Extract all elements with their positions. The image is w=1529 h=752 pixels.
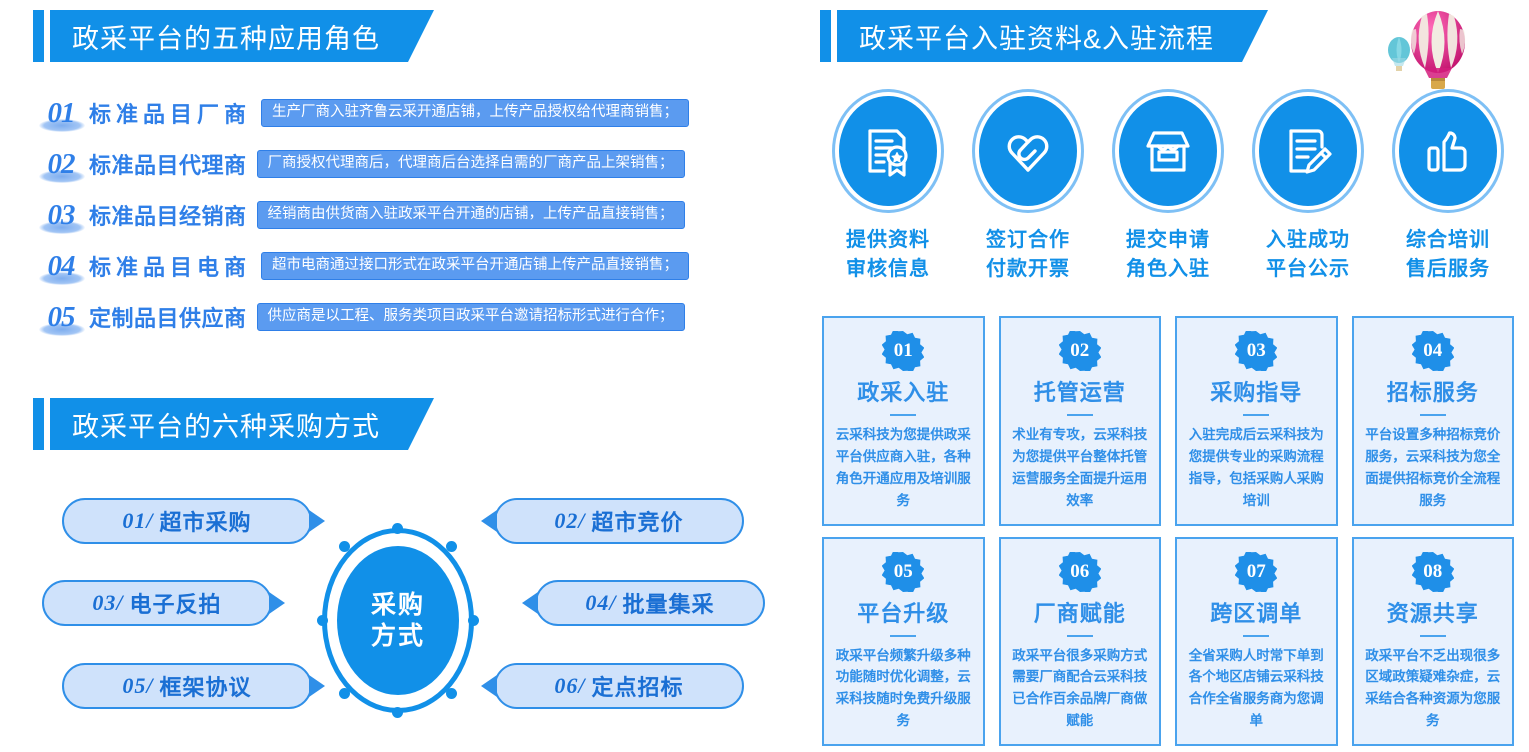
service-card[interactable]: 05 平台升级 政采平台频繁升级多种功能随时优化调整，云采科技随时免费升级服务	[822, 537, 985, 747]
wheel-dot	[339, 541, 350, 552]
step-label-line2: 审核信息	[846, 255, 930, 284]
roles-section-header: 政采平台的五种应用角色	[33, 10, 434, 62]
card-divider	[1420, 414, 1446, 416]
procurement-method-06[interactable]: 06/ 定点招标	[494, 663, 744, 709]
card-badge-number: 01	[894, 340, 913, 362]
wheel-dot	[392, 523, 403, 534]
card-badge-number: 02	[1070, 340, 1089, 362]
pill-tail	[269, 592, 285, 614]
service-cards-grid: 01 政采入驻 云采科技为您提供政采平台供应商入驻，各种角色开通应用及培训服务 …	[822, 316, 1514, 746]
role-number-text: 05	[48, 301, 75, 334]
role-name: 标准品目代理商	[89, 148, 247, 180]
wheel-dot	[468, 615, 479, 626]
card-title: 托管运营	[1034, 375, 1126, 407]
service-card[interactable]: 06 厂商赋能 政采平台很多采购方式需要厂商配合云采科技已合作百余品牌厂商做赋能	[999, 537, 1162, 747]
card-badge-number: 08	[1423, 561, 1442, 583]
role-row[interactable]: 03 标准品目经销商 经销商由供货商入驻政采平台开通的店铺，上传产品直接销售；	[33, 195, 685, 235]
card-body: 平台设置多种招标竞价服务，云采科技为您全面提供招标竞价全流程服务	[1354, 424, 1513, 511]
step-label: 综合培训 售后服务	[1406, 226, 1490, 284]
service-card[interactable]: 07 跨区调单 全省采购人时常下单到各个地区店铺云采科技合作全省服务商为您调单	[1175, 537, 1338, 747]
card-divider	[1420, 635, 1446, 637]
card-body: 入驻完成后云采科技为您提供专业的采购流程指导，包括采购人采购培训	[1177, 424, 1336, 511]
method-number: 01/	[122, 508, 153, 534]
step-label: 签订合作 付款开票	[986, 226, 1070, 284]
card-badge-number: 06	[1070, 561, 1089, 583]
service-card[interactable]: 02 托管运营 术业有专攻，云采科技为您提供平台整体托管运营服务全面提升运用效率	[999, 316, 1162, 526]
role-number-text: 03	[48, 199, 75, 232]
role-name: 标准品目电商	[89, 250, 251, 282]
step-label: 提供资料 审核信息	[846, 226, 930, 284]
method-number: 02/	[554, 508, 585, 534]
procurement-method-01[interactable]: 01/ 超市采购	[62, 498, 312, 544]
role-number: 05	[33, 297, 89, 337]
service-card[interactable]: 08 资源共享 政采平台不乏出现很多区域政策疑难杂症，云采结合各种资源为您服务	[1352, 537, 1515, 747]
step-label-line1: 综合培训	[1406, 226, 1490, 255]
flow-header-title: 政采平台入驻资料&入驻流程	[837, 10, 1268, 62]
card-title: 政采入驻	[857, 375, 949, 407]
wheel-dot	[446, 688, 457, 699]
step-item[interactable]: 综合培训 售后服务	[1378, 96, 1518, 296]
step-label-line2: 付款开票	[986, 255, 1070, 284]
step-label-line1: 提交申请	[1126, 226, 1210, 255]
step-label: 提交申请 角色入驻	[1126, 226, 1210, 284]
roles-header-title: 政采平台的五种应用角色	[50, 10, 434, 62]
wheel-dot	[392, 707, 403, 718]
card-badge-number: 03	[1247, 340, 1266, 362]
role-name: 定制品目供应商	[89, 301, 247, 333]
card-divider	[1067, 414, 1093, 416]
pill-tail	[522, 592, 538, 614]
card-divider	[890, 414, 916, 416]
step-label-line1: 提供资料	[846, 226, 930, 255]
step-item[interactable]: 提交申请 角色入驻	[1098, 96, 1238, 296]
document-edit-icon	[1259, 96, 1357, 206]
role-number: 02	[33, 144, 89, 184]
hot-air-balloon-icon	[1376, 6, 1480, 92]
card-badge: 02	[1059, 331, 1101, 371]
role-number: 04	[33, 246, 89, 286]
header-accent-bar	[33, 10, 44, 62]
role-number: 03	[33, 195, 89, 235]
wheel-dot	[317, 615, 328, 626]
step-label-line2: 角色入驻	[1126, 255, 1210, 284]
role-number-text: 04	[48, 250, 75, 283]
step-label: 入驻成功 平台公示	[1266, 226, 1350, 284]
role-number-text: 02	[48, 148, 75, 181]
card-divider	[1067, 635, 1093, 637]
step-item[interactable]: 入驻成功 平台公示	[1238, 96, 1378, 296]
card-badge: 08	[1412, 552, 1454, 592]
card-title: 招标服务	[1387, 375, 1479, 407]
service-card[interactable]: 01 政采入驻 云采科技为您提供政采平台供应商入驻，各种角色开通应用及培训服务	[822, 316, 985, 526]
role-description: 超市电商通过接口形式在政采平台开通店铺上传产品直接销售；	[261, 252, 689, 281]
card-badge: 07	[1235, 552, 1277, 592]
linked-hearts-icon	[979, 96, 1077, 206]
card-body: 政采平台很多采购方式需要厂商配合云采科技已合作百余品牌厂商做赋能	[1001, 645, 1160, 732]
procurement-method-05[interactable]: 05/ 框架协议	[62, 663, 312, 709]
role-row[interactable]: 02 标准品目代理商 厂商授权代理商后，代理商后台选择自需的厂商产品上架销售；	[33, 144, 685, 184]
method-label: 电子反拍	[130, 587, 222, 619]
header-accent-bar	[820, 10, 831, 62]
method-number: 05/	[122, 673, 153, 699]
method-number: 06/	[554, 673, 585, 699]
storefront-icon	[1119, 96, 1217, 206]
role-name: 标准品目经销商	[89, 199, 247, 231]
role-row[interactable]: 01 标准品目厂商 生产厂商入驻齐鲁云采开通店铺，上传产品授权给代理商销售；	[33, 93, 689, 133]
card-badge: 06	[1059, 552, 1101, 592]
step-label-line1: 入驻成功	[1266, 226, 1350, 255]
card-badge: 03	[1235, 331, 1277, 371]
card-title: 采购指导	[1210, 375, 1302, 407]
flow-section-header: 政采平台入驻资料&入驻流程	[820, 10, 1268, 62]
header-accent-gap	[831, 10, 837, 62]
procurement-method-04[interactable]: 04/ 批量集采	[535, 580, 765, 626]
procurement-wheel-center: 采购 方式	[322, 528, 474, 713]
method-label: 框架协议	[160, 670, 252, 702]
role-description: 厂商授权代理商后，代理商后台选择自需的厂商产品上架销售；	[257, 150, 685, 179]
card-badge: 04	[1412, 331, 1454, 371]
step-label-line1: 签订合作	[986, 226, 1070, 255]
role-row[interactable]: 04 标准品目电商 超市电商通过接口形式在政采平台开通店铺上传产品直接销售；	[33, 246, 689, 286]
card-body: 政采平台频繁升级多种功能随时优化调整，云采科技随时免费升级服务	[824, 645, 983, 732]
step-item[interactable]: 提供资料 审核信息	[818, 96, 958, 296]
onboarding-steps: 提供资料 审核信息 签订合作 付款开票	[818, 96, 1518, 296]
method-number: 03/	[92, 590, 123, 616]
card-divider	[890, 635, 916, 637]
method-label: 超市采购	[160, 505, 252, 537]
step-item[interactable]: 签订合作 付款开票	[958, 96, 1098, 296]
step-label-line2: 平台公示	[1266, 255, 1350, 284]
card-title: 跨区调单	[1210, 596, 1302, 628]
method-label: 超市竞价	[592, 505, 684, 537]
card-badge-number: 05	[894, 561, 913, 583]
service-card[interactable]: 03 采购指导 入驻完成后云采科技为您提供专业的采购流程指导，包括采购人采购培训	[1175, 316, 1338, 526]
service-card[interactable]: 04 招标服务 平台设置多种招标竞价服务，云采科技为您全面提供招标竞价全流程服务	[1352, 316, 1515, 526]
role-description: 生产厂商入驻齐鲁云采开通店铺，上传产品授权给代理商销售；	[261, 99, 689, 128]
card-badge: 05	[882, 552, 924, 592]
procurement-method-03[interactable]: 03/ 电子反拍	[42, 580, 272, 626]
card-body: 云采科技为您提供政采平台供应商入驻，各种角色开通应用及培训服务	[824, 424, 983, 511]
header-accent-gap	[44, 10, 50, 62]
wheel-core: 采购 方式	[337, 546, 459, 695]
role-description: 供应商是以工程、服务类项目政采平台邀请招标形式进行合作；	[257, 303, 685, 332]
card-divider	[1243, 635, 1269, 637]
card-title: 资源共享	[1387, 596, 1479, 628]
card-title: 平台升级	[857, 596, 949, 628]
wheel-label-line2: 方式	[371, 621, 425, 652]
role-number-text: 01	[48, 97, 75, 130]
role-description: 经销商由供货商入驻政采平台开通的店铺，上传产品直接销售；	[257, 201, 685, 230]
procurement-method-02[interactable]: 02/ 超市竞价	[494, 498, 744, 544]
thumbs-up-icon	[1399, 96, 1497, 206]
method-label: 定点招标	[592, 670, 684, 702]
step-label-line2: 售后服务	[1406, 255, 1490, 284]
roles-section: 政采平台的五种应用角色 01 标准品目厂商 生产厂商入驻齐鲁云采开通店铺，上传产…	[0, 0, 800, 375]
role-row[interactable]: 05 定制品目供应商 供应商是以工程、服务类项目政采平台邀请招标形式进行合作；	[33, 297, 685, 337]
certificate-icon	[839, 96, 937, 206]
method-label: 批量集采	[623, 587, 715, 619]
card-badge-number: 04	[1423, 340, 1442, 362]
wheel-dot	[339, 688, 350, 699]
card-title: 厂商赋能	[1034, 596, 1126, 628]
card-badge: 01	[882, 331, 924, 371]
pill-tail	[481, 675, 497, 697]
card-badge-number: 07	[1247, 561, 1266, 583]
infographic-page: 政采平台的五种应用角色 01 标准品目厂商 生产厂商入驻齐鲁云采开通店铺，上传产…	[0, 0, 1529, 752]
method-number: 04/	[585, 590, 616, 616]
wheel-label-line1: 采购	[371, 590, 425, 621]
card-body: 全省采购人时常下单到各个地区店铺云采科技合作全省服务商为您调单	[1177, 645, 1336, 732]
card-body: 术业有专攻，云采科技为您提供平台整体托管运营服务全面提升运用效率	[1001, 424, 1160, 511]
role-name: 标准品目厂商	[89, 97, 251, 129]
role-number: 01	[33, 93, 89, 133]
card-body: 政采平台不乏出现很多区域政策疑难杂症，云采结合各种资源为您服务	[1354, 645, 1513, 732]
pill-tail	[481, 510, 497, 532]
wheel-dot	[446, 541, 457, 552]
card-divider	[1243, 414, 1269, 416]
